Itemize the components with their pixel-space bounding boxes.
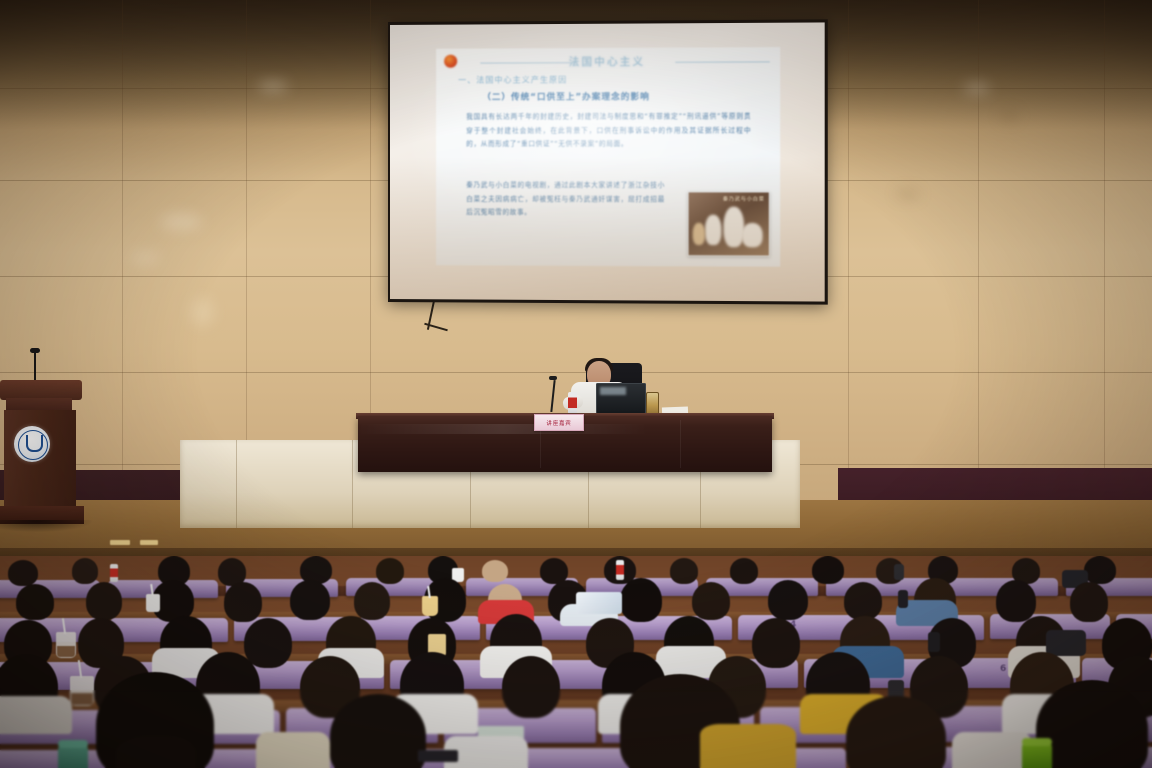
wall-mark	[160, 214, 202, 230]
presentation-slide: 法国中心主义 一、法国中心主义产生原因 （二）传统“口供至上”办案理念的影响 我…	[436, 47, 780, 267]
slide-paragraph: 秦乃武与小白菜的电视剧，通过此剧本大家讲述了浙江杂技小白菜之夫因病病亡，却被冤枉…	[466, 179, 665, 220]
person-head	[16, 584, 54, 620]
person-body	[0, 696, 72, 734]
wall-mark	[190, 298, 214, 326]
projection-screen-surface: 法国中心主义 一、法国中心主义产生原因 （二）传统“口供至上”办案理念的影响 我…	[390, 22, 825, 301]
slide-paragraph: 我国具有长达两千年的封建历史，封建司法与制度思和“有罪推定”“刑讯逼供”等原则贯…	[466, 110, 751, 151]
person-head	[1070, 582, 1108, 622]
bottle-icon	[616, 560, 624, 580]
person-head	[844, 582, 882, 620]
bottle-icon	[110, 564, 118, 582]
person-head	[730, 558, 758, 584]
podium-top	[0, 380, 82, 400]
person-head	[1036, 680, 1148, 768]
panel-seam	[352, 440, 353, 528]
boba-pearls	[57, 646, 75, 657]
person-body	[256, 732, 330, 768]
laptop-screen-glow	[600, 387, 626, 395]
person-body	[700, 724, 796, 768]
panel-seam	[236, 440, 237, 528]
microphone-icon	[30, 348, 40, 353]
figure-shape	[693, 223, 705, 245]
stage-footlight	[140, 540, 158, 545]
wall-seam	[1104, 0, 1105, 470]
slide-inset-image: 秦乃武与小白菜	[688, 191, 770, 256]
university-seal-letter	[26, 435, 43, 452]
person-head	[768, 580, 808, 620]
wall-seam	[246, 0, 247, 470]
presenter-name-card-text: 讲座嘉宾	[546, 419, 571, 427]
wall-mark	[258, 82, 288, 91]
cup-icon	[146, 594, 160, 612]
stage-footlight	[110, 540, 130, 545]
microphone-icon	[549, 376, 557, 380]
seat-number: 6	[1000, 664, 1006, 674]
person-head	[1084, 556, 1116, 584]
wall-seam	[978, 0, 979, 470]
person-head	[72, 558, 98, 584]
phone-icon	[418, 750, 458, 762]
wall-mark	[130, 252, 160, 264]
wall-seam	[370, 0, 371, 470]
projection-screen: 法国中心主义 一、法国中心主义产生原因 （二）传统“口供至上”办案理念的影响 我…	[388, 19, 828, 304]
person-head	[670, 558, 698, 584]
person-head	[8, 560, 38, 586]
figure-shape	[705, 215, 721, 245]
bottle-icon	[568, 392, 577, 414]
person-head	[290, 580, 330, 620]
person-head	[812, 556, 844, 584]
wall-mark	[1000, 112, 1018, 120]
lecture-hall-photo: 法国中心主义 一、法国中心主义产生原因 （二）传统“口供至上”办案理念的影响 我…	[0, 0, 1152, 768]
person-head	[752, 618, 800, 668]
slide-title: 法国中心主义	[436, 53, 780, 70]
person-head	[86, 582, 122, 620]
boba-pearls	[71, 693, 93, 705]
person-body	[952, 732, 1032, 768]
cup-icon	[422, 596, 438, 616]
student-audience: 4	[0, 556, 1152, 768]
backpack-icon	[1046, 630, 1086, 656]
notebook-icon	[576, 592, 622, 614]
wall-seam	[122, 0, 123, 470]
wall-seam	[848, 0, 849, 470]
slide-heading-1: 一、法国中心主义产生原因	[458, 74, 567, 85]
person-head	[482, 560, 508, 582]
person-hair-length	[116, 736, 196, 768]
podium-shadow	[0, 520, 92, 532]
person-head	[620, 578, 662, 622]
bottle-icon	[894, 564, 904, 580]
person-head	[996, 580, 1036, 622]
bottle-icon	[898, 590, 908, 608]
thermos-lid	[58, 740, 88, 748]
microphone-stand	[34, 352, 36, 382]
slide-heading-2: （二）传统“口供至上”办案理念的影响	[482, 90, 650, 103]
figure-shape	[723, 207, 744, 248]
person-head	[330, 694, 426, 768]
wall-mark	[964, 84, 990, 93]
person-head	[244, 618, 292, 668]
figure-shape	[742, 223, 763, 247]
wall-seam	[0, 372, 1152, 373]
slide-inset-caption: 秦乃武与小白菜	[723, 195, 765, 202]
person-head	[224, 582, 262, 622]
person-head	[354, 582, 390, 620]
person-head	[376, 558, 404, 584]
person-head	[692, 582, 730, 620]
thermos-lid	[1022, 738, 1052, 746]
person-head	[846, 696, 946, 768]
person-head	[502, 656, 560, 718]
bottle-icon	[928, 632, 940, 652]
presenter-name-card: 讲座嘉宾	[534, 414, 584, 431]
wall-mark	[896, 190, 920, 198]
